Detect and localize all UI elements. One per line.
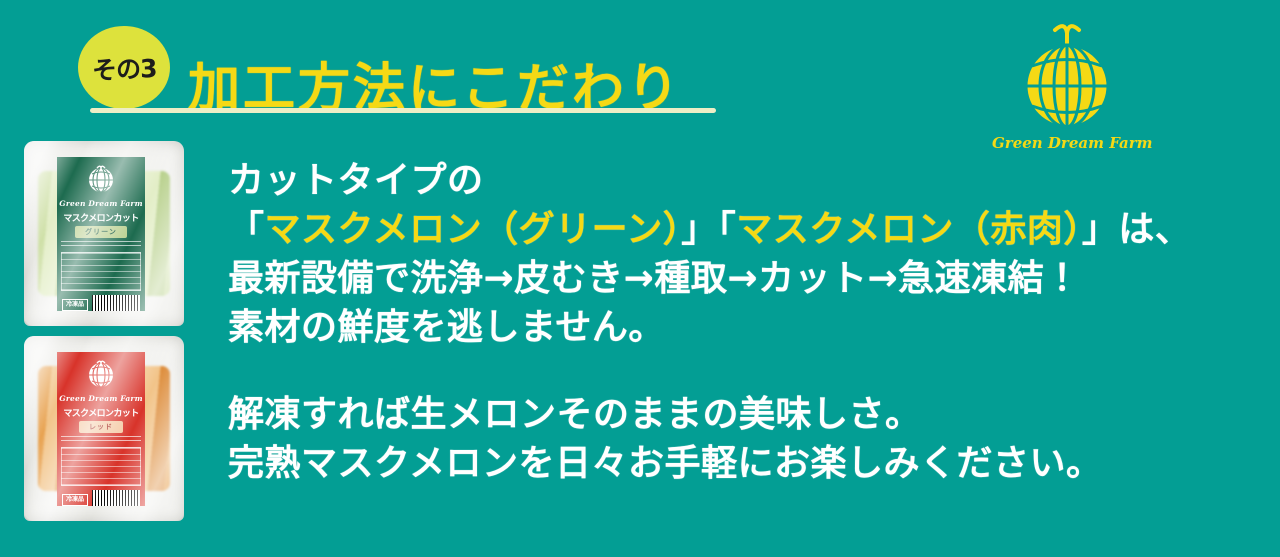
copy-line-2: 「マスクメロン（グリーン）」「マスクメロン（赤肉）」は、 (228, 205, 1148, 254)
product-name-green: マスクメロン（グリーン） (265, 209, 682, 250)
brand-logo: Green Dream Farm (992, 14, 1142, 164)
bracket-open: 「 (228, 209, 265, 250)
frozen-mark: 冷凍品 (62, 494, 88, 506)
package-variant-label: グリーン (75, 226, 127, 238)
brand-wordmark: Green Dream Farm (992, 134, 1142, 152)
package-label-green: Green Dream Farm マスクメロンカット グリーン 冷凍品 (57, 157, 145, 311)
melon-globe-icon (84, 164, 118, 198)
bracket-close: 」は、 (1082, 209, 1192, 250)
package-brand: Green Dream Farm (59, 394, 142, 403)
paragraph-processing: カットタイプの 「マスクメロン（グリーン）」「マスクメロン（赤肉）」は、 最新設… (228, 156, 1148, 352)
copy-line-5: 解凍すれば生メロンそのままの美味しさ。 (228, 390, 1148, 439)
package-variant-label: レッド (79, 421, 123, 433)
package-label-red: Green Dream Farm マスクメロンカット レッド 冷凍品 (57, 352, 145, 506)
melon-globe-icon (992, 14, 1142, 134)
copy-line-6: 完熟マスクメロンを日々お手軽にお楽しみください。 (228, 439, 1148, 488)
product-photo-red: Green Dream Farm マスクメロンカット レッド 冷凍品 (24, 336, 184, 521)
title-divider (90, 108, 716, 113)
nutrition-table (61, 252, 141, 291)
step-badge: その3 (78, 26, 170, 109)
package-product-name: マスクメロンカット (63, 211, 138, 224)
melon-globe-icon (84, 359, 118, 393)
package-product-name: マスクメロンカット (63, 406, 138, 419)
paragraph-taste: 解凍すれば生メロンそのままの美味しさ。 完熟マスクメロンを日々お手軽にお楽しみく… (228, 390, 1148, 488)
paragraph-spacer (228, 352, 1148, 390)
promo-banner: その3 加工方法にこだわり (0, 0, 1280, 557)
package-description-text (61, 436, 141, 443)
barcode-icon (92, 295, 140, 311)
body-copy: カットタイプの 「マスクメロン（グリーン）」「マスクメロン（赤肉）」は、 最新設… (228, 156, 1148, 488)
barcode-icon (92, 490, 140, 506)
package-description-text (61, 241, 141, 248)
copy-line-4: 素材の鮮度を逃しません。 (228, 303, 1148, 352)
step-badge-label: その3 (91, 48, 157, 86)
package-footer: 冷凍品 (62, 490, 140, 506)
bracket-middle: 」「 (681, 209, 736, 250)
nutrition-table (61, 447, 141, 486)
package-footer: 冷凍品 (62, 295, 140, 311)
copy-line-1: カットタイプの (228, 156, 1148, 205)
product-name-red: マスクメロン（赤肉） (736, 209, 1082, 250)
package-brand: Green Dream Farm (59, 199, 142, 208)
copy-line-3: 最新設備で洗浄→皮むき→種取→カット→急速凍結！ (228, 254, 1148, 303)
frozen-mark: 冷凍品 (62, 299, 88, 311)
product-photo-green: Green Dream Farm マスクメロンカット グリーン 冷凍品 (24, 141, 184, 326)
